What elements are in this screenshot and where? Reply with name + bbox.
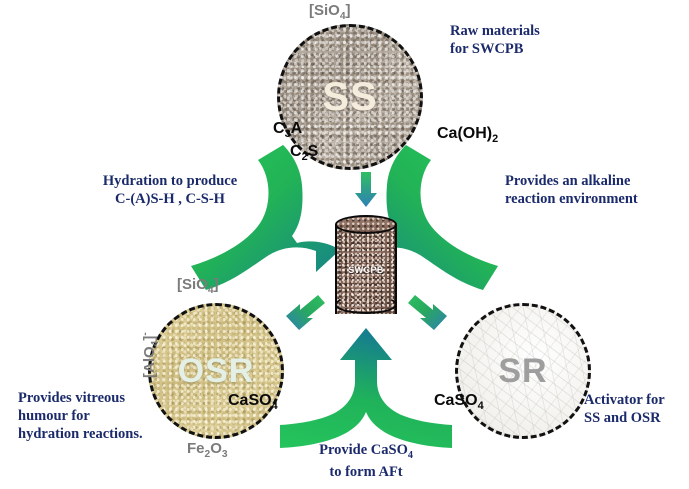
- cylinder-bottom-ellipse: [335, 295, 397, 314]
- arrow-bottom-merge: [280, 328, 452, 448]
- note-provide-caso4-line1: Provide CaSO4: [266, 441, 466, 463]
- arrow-small-down-ss: [355, 172, 377, 207]
- note-vitreous-line2: humour for: [18, 407, 188, 425]
- note-vitreous-line1: Provides vitreous: [18, 389, 188, 407]
- chem-label-caoh2: Ca(OH)2: [437, 125, 498, 145]
- arrow-small-sr-to-core: [408, 295, 447, 330]
- oxide-label-alo4: [AlO4]-: [140, 332, 161, 378]
- note-raw-materials-line1: Raw materials: [450, 22, 540, 40]
- note-alkaline: Provides an alkaline reaction environmen…: [505, 172, 685, 208]
- note-alkaline-line1: Provides an alkaline: [505, 172, 685, 190]
- note-raw-materials-line2: for SWCPB: [450, 40, 540, 58]
- material-label-osr: OSR: [178, 352, 255, 391]
- note-raw-materials: Raw materials for SWCPB: [450, 22, 540, 58]
- note-hydration-line2: C-(A)S-H , C-S-H: [72, 190, 268, 208]
- chem-label-c2s: C2S: [290, 143, 318, 163]
- chem-label-caso4-left: CaSO4: [228, 392, 278, 412]
- arrow-left-merge: [191, 145, 340, 290]
- oxide-label-fe2o3: Fe2O3: [187, 440, 228, 460]
- note-activator-line1: Activator for: [584, 391, 689, 409]
- note-hydration-line1: Hydration to produce: [72, 172, 268, 190]
- note-activator: Activator for SS and OSR: [584, 391, 689, 427]
- note-vitreous-line3: hydration reactions.: [18, 425, 188, 443]
- oxide-label-sio4-ss: [SiO4]: [309, 2, 351, 22]
- note-activator-line2: SS and OSR: [584, 409, 689, 427]
- note-alkaline-line2: reaction environment: [505, 190, 685, 208]
- material-circle-sr[interactable]: SR: [455, 303, 591, 439]
- material-label-ss: SS: [322, 75, 377, 120]
- note-hydration: Hydration to produce C-(A)S-H , C-S-H: [72, 172, 268, 208]
- arrow-small-osr-to-core: [286, 295, 325, 330]
- cylinder-top-ellipse: [335, 215, 397, 234]
- cylinder-label: SWCPB: [335, 265, 397, 275]
- chem-label-c3a: C3A: [273, 120, 302, 140]
- oxide-label-sio4-osr: [SiO4]: [177, 276, 219, 296]
- material-label-sr: SR: [498, 352, 547, 391]
- chem-label-caso4-right: CaSO4: [434, 392, 484, 412]
- note-provide-caso4: Provide CaSO4 to form AFt: [266, 441, 466, 481]
- figure-canvas: SS OSR SR SWCPB [SiO4] [SiO4] [AlO4]- Fe…: [0, 0, 689, 489]
- note-provide-caso4-line2: to form AFt: [266, 463, 466, 481]
- swcpb-cylinder[interactable]: SWCPB: [335, 215, 397, 323]
- note-vitreous: Provides vitreous humour for hydration r…: [18, 389, 188, 443]
